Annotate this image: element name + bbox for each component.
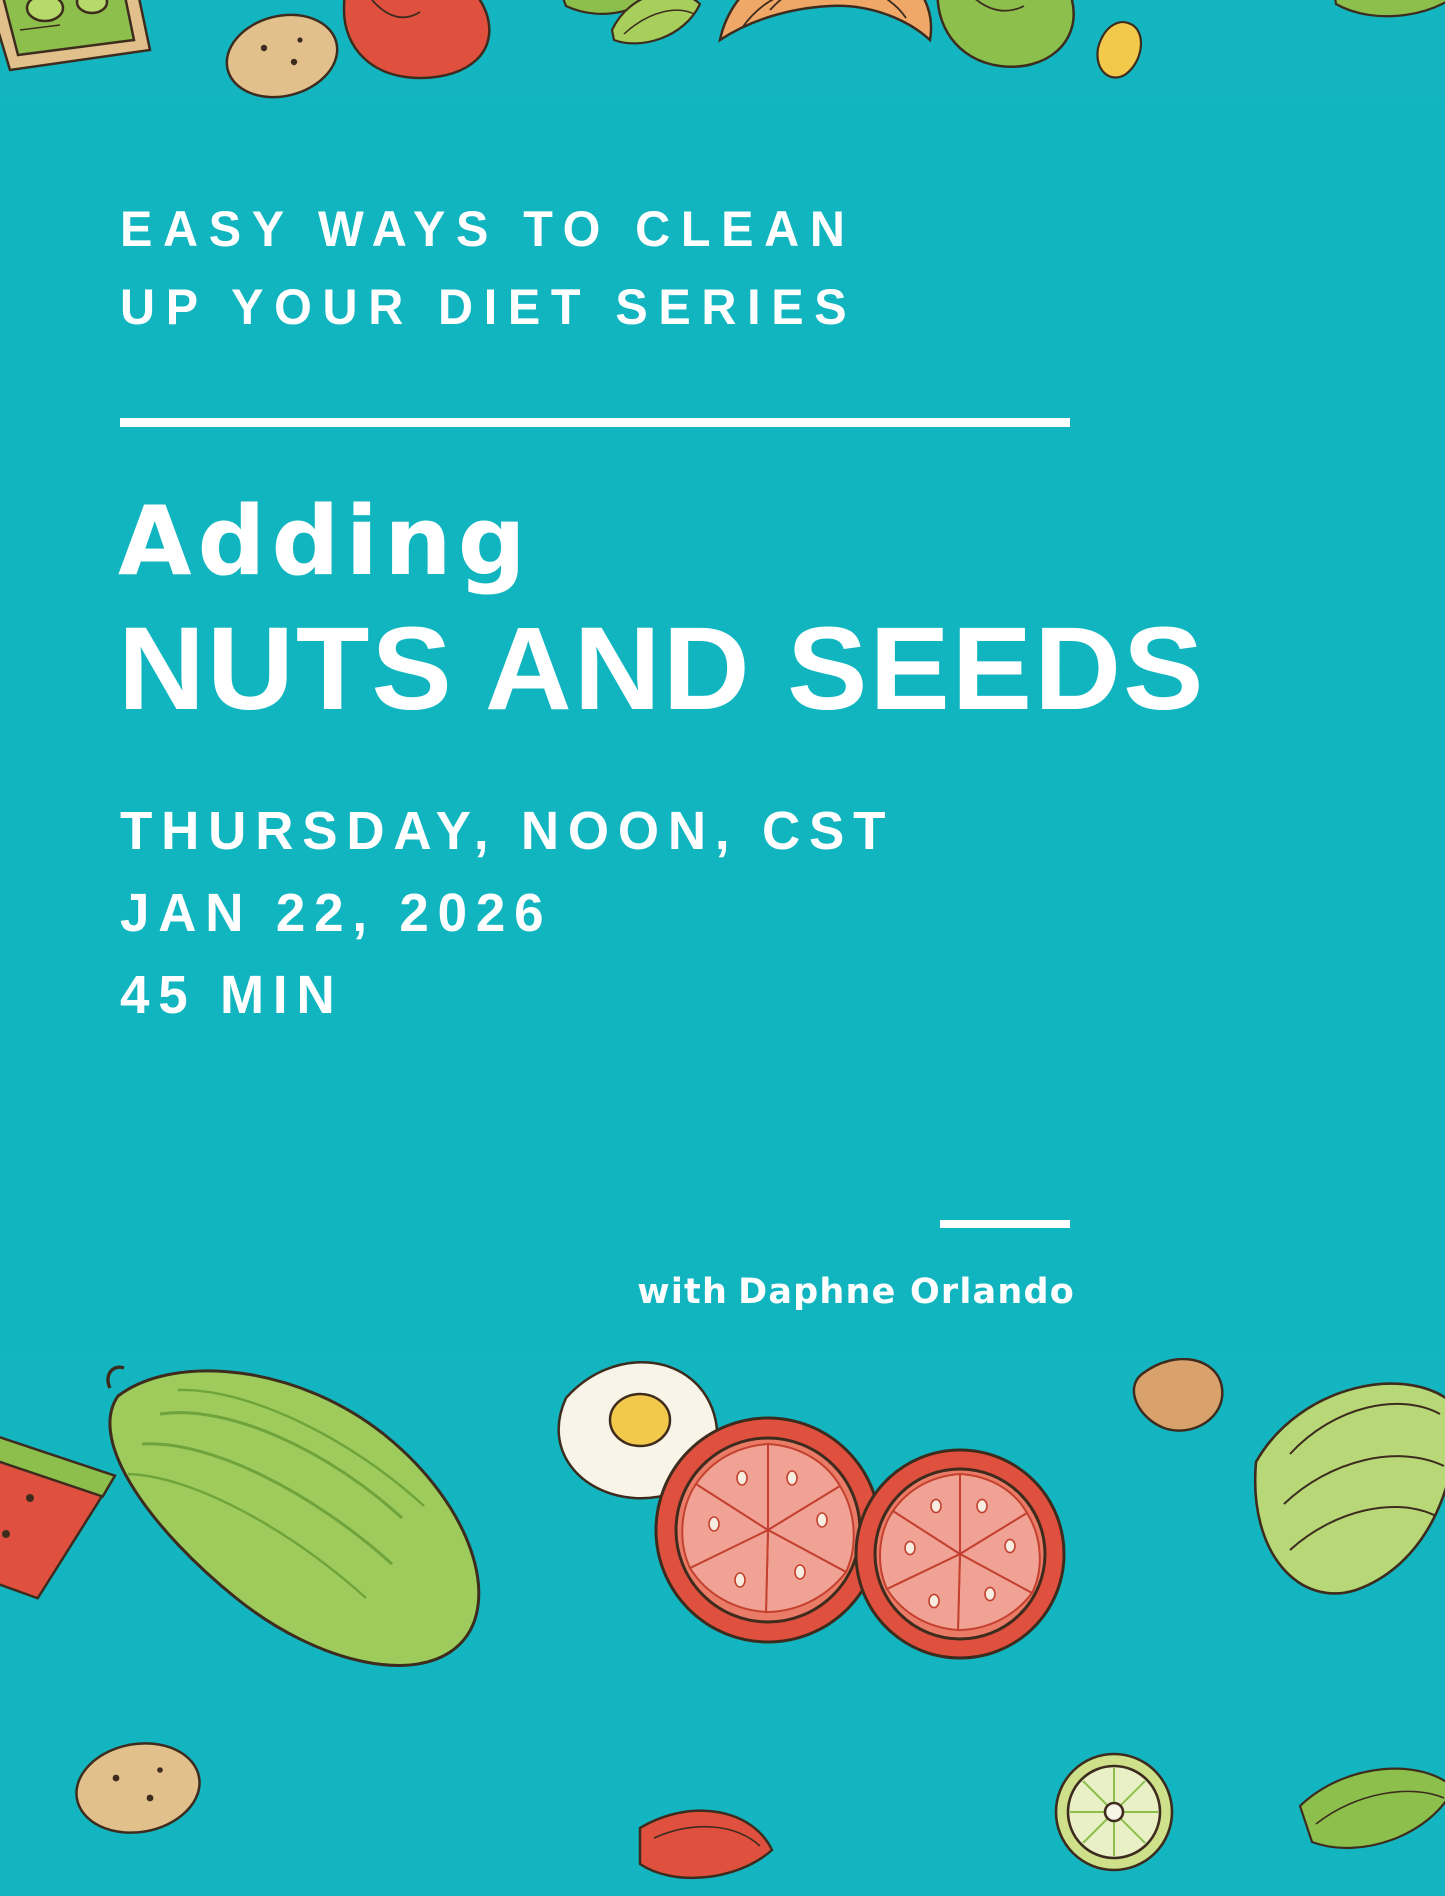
tomato-slice-icon bbox=[856, 1450, 1064, 1658]
header-divider-rule bbox=[120, 418, 1070, 427]
presenter-credit: withDaphne Orlando bbox=[0, 1272, 1075, 1312]
event-day-time: THURSDAY, NOON, CST bbox=[120, 790, 894, 872]
kiwi-slice-icon bbox=[1056, 1754, 1172, 1870]
title-script-word: Adding bbox=[118, 490, 532, 594]
event-duration: 45 MIN bbox=[120, 954, 894, 1036]
poster-content: EASY WAYS TO CLEAN UP YOUR DIET SERIES A… bbox=[0, 100, 1445, 1360]
credit-divider-rule bbox=[940, 1220, 1070, 1228]
event-poster: EASY WAYS TO CLEAN UP YOUR DIET SERIES A… bbox=[0, 0, 1445, 1896]
decorative-food-border-bottom bbox=[0, 1358, 1445, 1896]
event-details-block: THURSDAY, NOON, CST JAN 22, 2026 45 MIN bbox=[120, 790, 894, 1036]
title-main-word: NUTS AND SEEDS bbox=[118, 608, 1205, 730]
decorative-food-border-top bbox=[0, 0, 1445, 102]
credit-presenter-name: Daphne Orlando bbox=[738, 1272, 1075, 1312]
series-eyebrow-heading: EASY WAYS TO CLEAN UP YOUR DIET SERIES bbox=[120, 190, 1090, 346]
credit-with-label: with bbox=[637, 1272, 728, 1312]
event-date: JAN 22, 2026 bbox=[120, 872, 894, 954]
tomato-slice-icon bbox=[656, 1418, 880, 1642]
